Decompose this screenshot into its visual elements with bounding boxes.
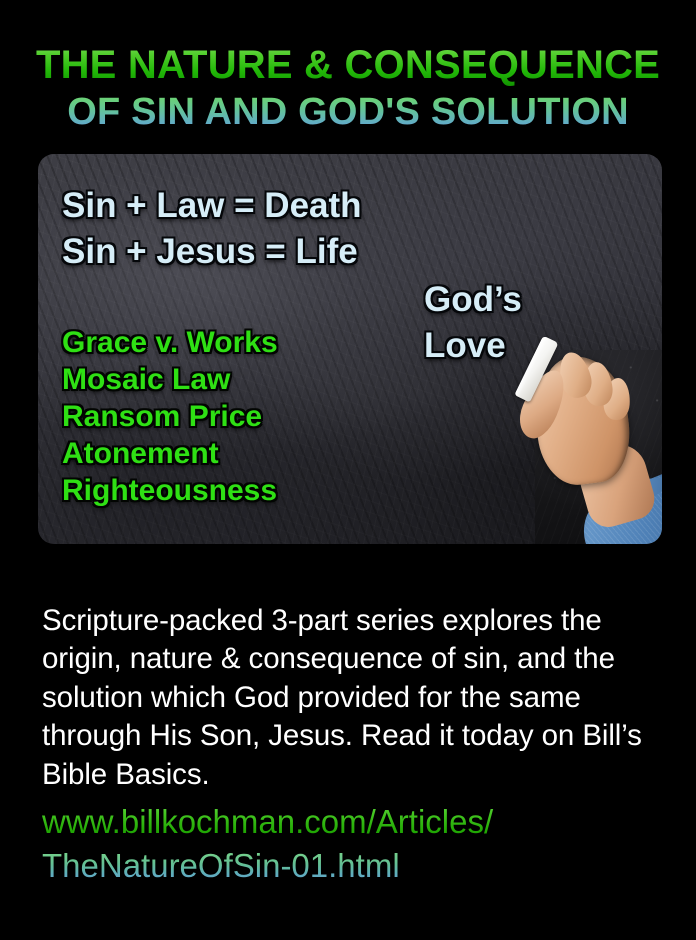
url-line-1[interactable]: www.billkochman.com/Articles/ bbox=[42, 800, 672, 844]
side-note-line-2: Love bbox=[424, 326, 506, 366]
topic-item: Ransom Price bbox=[62, 398, 278, 435]
poster-root: THE NATURE & CONSEQUENCE OF SIN AND GOD'… bbox=[0, 0, 696, 940]
hand-holding-chalk-icon bbox=[508, 334, 662, 544]
topic-item: Atonement bbox=[62, 435, 278, 472]
equation-sin-jesus-life: Sin + Jesus = Life bbox=[62, 232, 358, 272]
topic-item: Grace v. Works bbox=[62, 324, 278, 361]
side-note-line-1: God’s bbox=[424, 280, 522, 320]
website-url[interactable]: www.billkochman.com/Articles/ TheNatureO… bbox=[42, 800, 672, 888]
description-paragraph: Scripture-packed 3-part series explores … bbox=[42, 602, 668, 795]
url-line-2[interactable]: TheNatureOfSin-01.html bbox=[42, 844, 672, 888]
topic-item: Mosaic Law bbox=[62, 361, 278, 398]
topic-list: Grace v. Works Mosaic Law Ransom Price A… bbox=[62, 324, 278, 509]
title-line-2: OF SIN AND GOD'S SOLUTION bbox=[0, 89, 696, 136]
page-title: THE NATURE & CONSEQUENCE OF SIN AND GOD'… bbox=[0, 42, 696, 136]
topic-item: Righteousness bbox=[62, 472, 278, 509]
title-line-1: THE NATURE & CONSEQUENCE bbox=[0, 42, 696, 89]
chalkboard: Sin + Law = Death Sin + Jesus = Life God… bbox=[38, 154, 662, 544]
equation-sin-law-death: Sin + Law = Death bbox=[62, 186, 362, 226]
